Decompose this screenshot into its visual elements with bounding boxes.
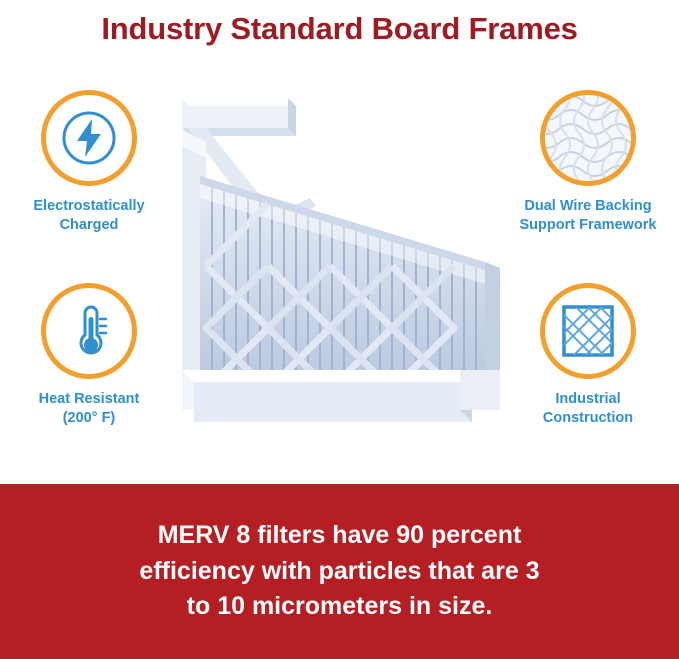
feature-heat-resistant: Heat Resistant (200° F) bbox=[4, 283, 174, 428]
thermometer-icon bbox=[59, 301, 119, 361]
feature-label: Industrial Construction bbox=[543, 390, 633, 428]
feature-label-line2: (200° F) bbox=[39, 409, 140, 428]
grid-frame-icon bbox=[557, 300, 619, 362]
page-title: Industry Standard Board Frames bbox=[101, 11, 577, 47]
feature-label-line1: Heat Resistant bbox=[39, 390, 140, 409]
feature-label: Heat Resistant (200° F) bbox=[39, 390, 140, 428]
feature-label: Dual Wire Backing Support Framework bbox=[520, 197, 657, 235]
feature-label-line2: Charged bbox=[33, 216, 144, 235]
feature-label-line2: Support Framework bbox=[520, 216, 657, 235]
badge-circle bbox=[540, 283, 636, 379]
lightning-bolt-icon bbox=[61, 110, 117, 166]
bottom-banner: MERV 8 filters have 90 percent efficienc… bbox=[0, 484, 679, 659]
feature-label-line1: Electrostatically bbox=[33, 197, 144, 216]
header: Industry Standard Board Frames bbox=[0, 0, 679, 58]
feature-label-line2: Construction bbox=[543, 409, 633, 428]
banner-line-2: efficiency with particles that are 3 bbox=[139, 554, 539, 590]
filter-illustration bbox=[160, 70, 515, 470]
feature-label-line1: Dual Wire Backing bbox=[520, 197, 657, 216]
feature-label-line1: Industrial bbox=[543, 390, 633, 409]
badge-circle bbox=[41, 283, 137, 379]
feature-label: Electrostatically Charged bbox=[33, 197, 144, 235]
badge-circle bbox=[41, 90, 137, 186]
feature-dual-wire-backing: Dual Wire Backing Support Framework bbox=[503, 90, 673, 235]
wire-mesh-icon bbox=[545, 95, 631, 181]
feature-industrial-construction: Industrial Construction bbox=[503, 283, 673, 428]
banner-line-3: to 10 micrometers in size. bbox=[187, 589, 493, 625]
badge-circle bbox=[540, 90, 636, 186]
product-infographic: Industry Standard Board Frames bbox=[0, 0, 679, 659]
banner-line-1: MERV 8 filters have 90 percent bbox=[158, 518, 522, 554]
feature-electrostatically-charged: Electrostatically Charged bbox=[4, 90, 174, 235]
